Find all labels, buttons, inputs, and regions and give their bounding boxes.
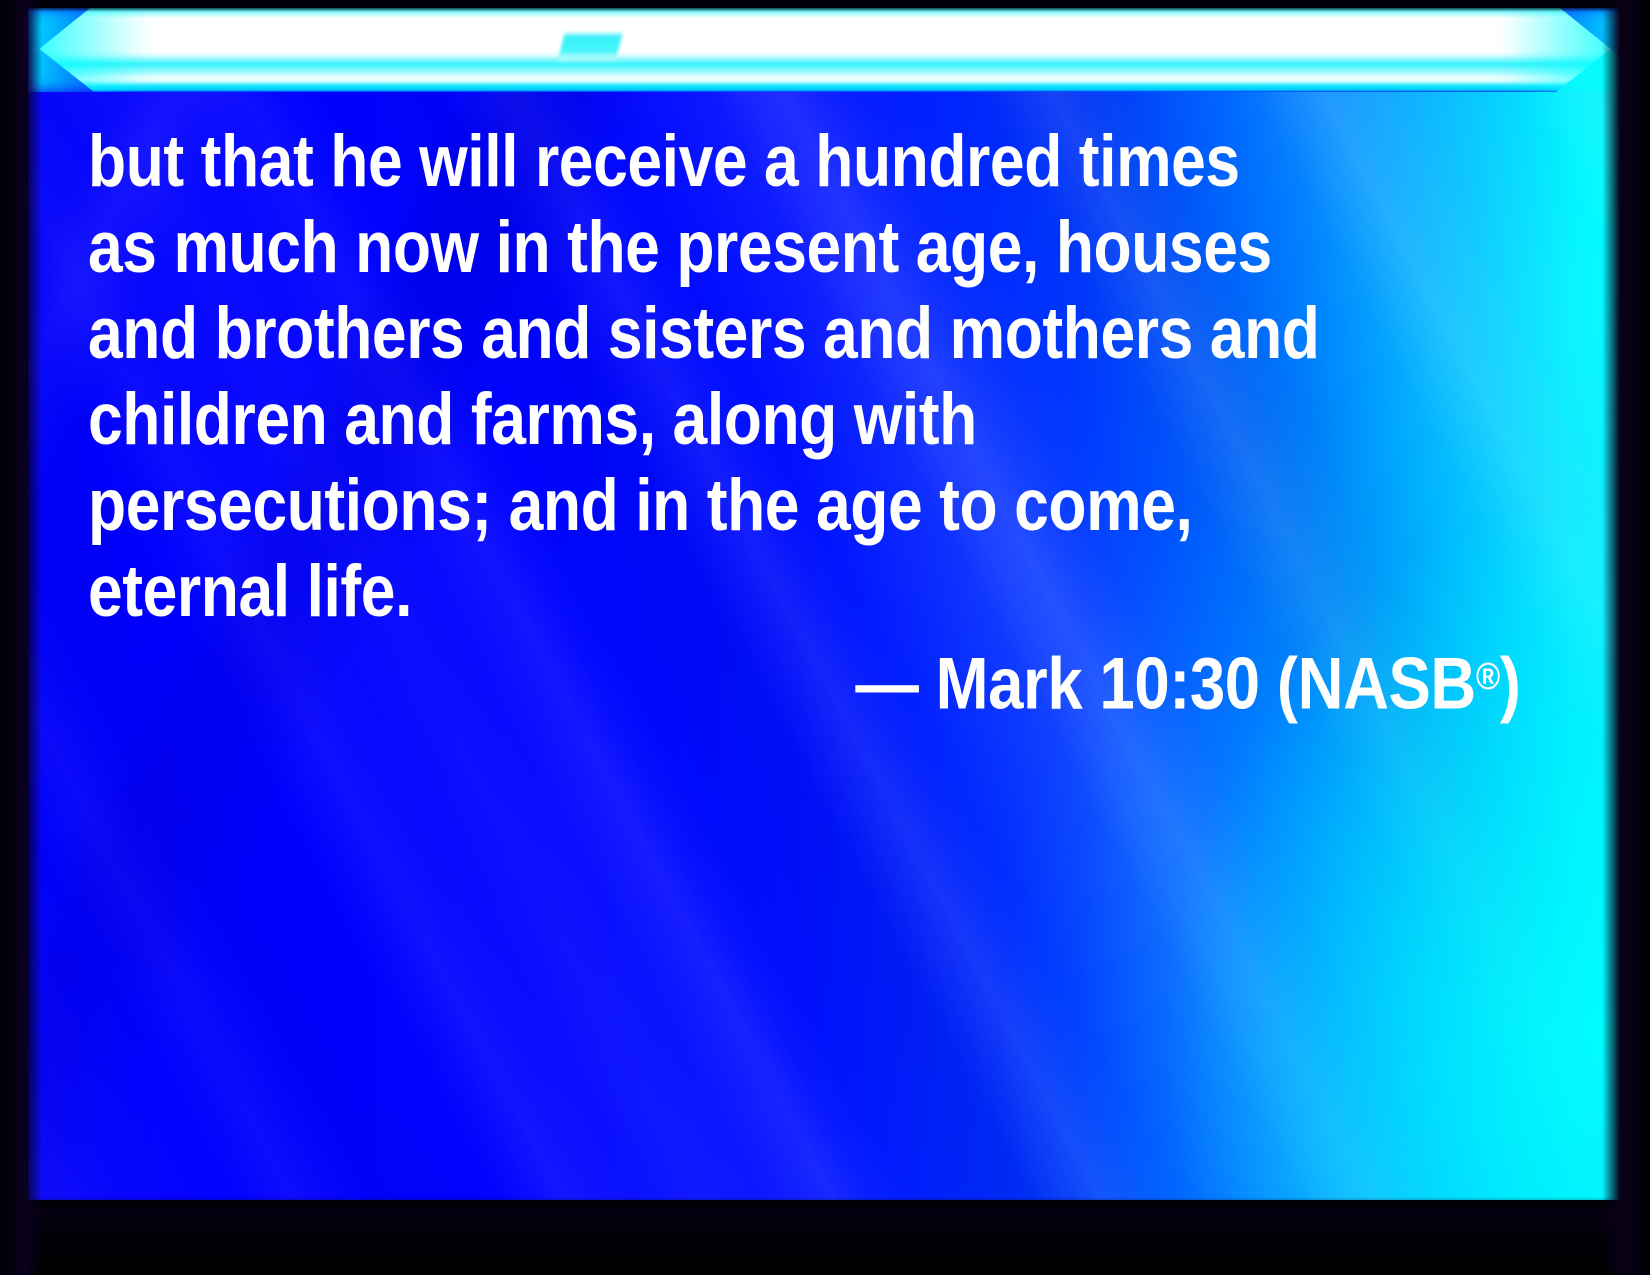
attribution-open-paren: (	[1276, 644, 1297, 725]
attribution-translation: NASB	[1297, 644, 1475, 725]
registered-trademark-icon: ®	[1475, 656, 1499, 698]
verse-line: as much now in the present age, houses	[88, 205, 1302, 291]
verse-text-block: but that he will receive a hundred times…	[88, 119, 1508, 635]
top-banner-notch	[557, 31, 623, 64]
attribution-spacer-3	[1259, 644, 1276, 725]
verse-line: and brothers and sisters and mothers and	[88, 291, 1302, 377]
attribution-close-paren: )	[1499, 644, 1520, 725]
verse-line: persecutions; and in the age to come,	[88, 463, 1302, 549]
attribution-book: Mark	[935, 644, 1082, 725]
attribution-chapter-verse: 10:30	[1099, 644, 1259, 725]
attribution-spacer	[918, 644, 935, 725]
attribution-dash: —	[855, 644, 918, 725]
verse-line: but that he will receive a hundred times	[88, 119, 1302, 205]
verse-line: eternal life.	[88, 549, 1302, 635]
verse-slide: but that he will receive a hundred times…	[0, 0, 1650, 1275]
top-banner	[28, 8, 1622, 92]
top-banner-fill	[28, 8, 1622, 92]
attribution-spacer-2	[1082, 644, 1099, 725]
verse-line: children and farms, along with	[88, 377, 1302, 463]
verse-attribution-inner: — Mark 10:30 (NASB®)	[855, 634, 1520, 728]
verse-attribution: — Mark 10:30 (NASB®)	[88, 634, 1520, 728]
